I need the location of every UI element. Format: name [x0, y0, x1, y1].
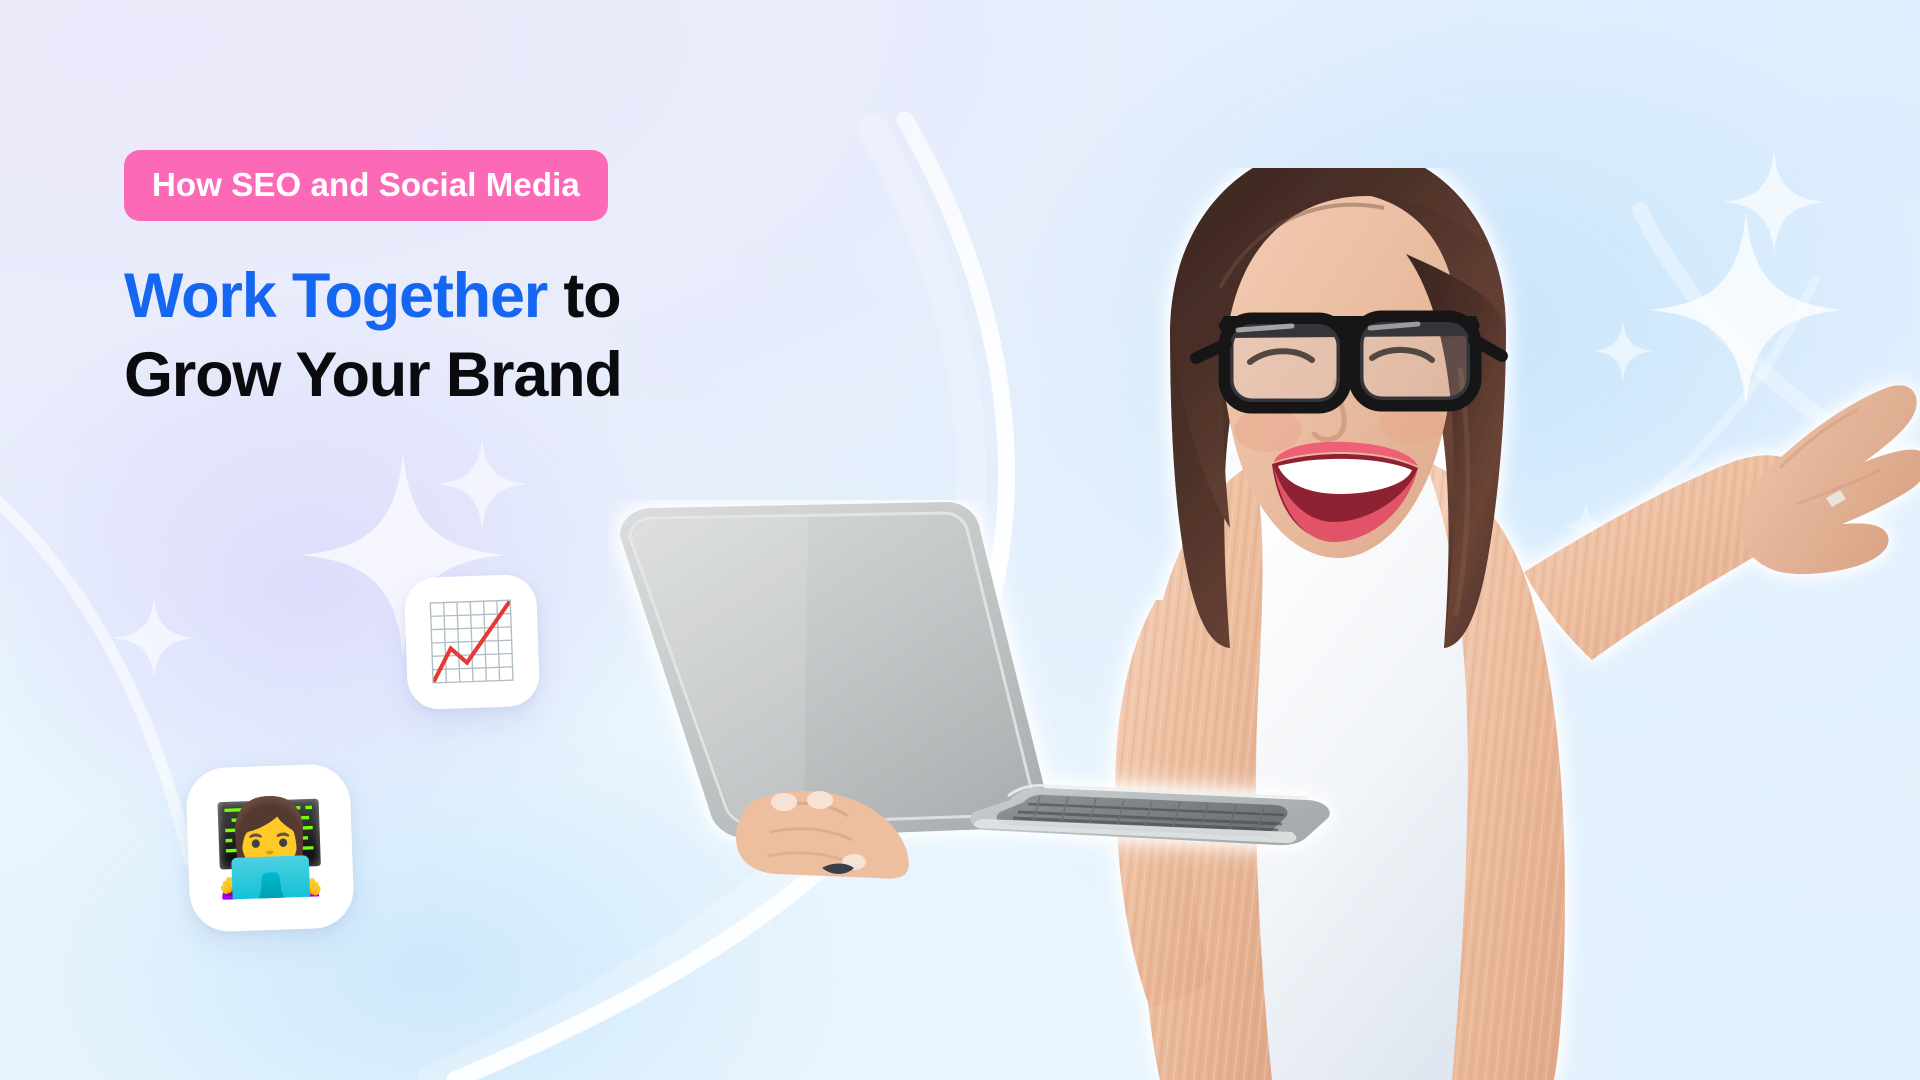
emoji-card-woman-technologist: 👩‍💻	[185, 763, 355, 933]
chart-increasing-icon: 📈	[425, 603, 520, 680]
headline-highlight: Work Together	[124, 261, 547, 331]
banner-canvas: 📈 👩‍💻 How SEO and Social Media Work Toge…	[0, 0, 1920, 1080]
sparkle-icon	[112, 596, 196, 680]
sparkle-icon	[436, 438, 528, 530]
headline-line-1-rest: to	[547, 261, 620, 331]
headline-line-2: Grow Your Brand	[124, 336, 944, 415]
woman-technologist-icon: 👩‍💻	[211, 800, 329, 896]
headline-line-1: Work Together to	[124, 257, 944, 336]
headline-block: How SEO and Social Media Work Together t…	[124, 150, 944, 416]
emoji-card-chart-increasing: 📈	[404, 574, 541, 711]
eyeglasses	[1196, 316, 1502, 406]
laptop-graphic	[608, 500, 1348, 880]
eyebrow-badge: How SEO and Social Media	[124, 150, 608, 221]
page-title: Work Together to Grow Your Brand	[124, 257, 944, 416]
raised-open-hand	[1740, 385, 1920, 574]
